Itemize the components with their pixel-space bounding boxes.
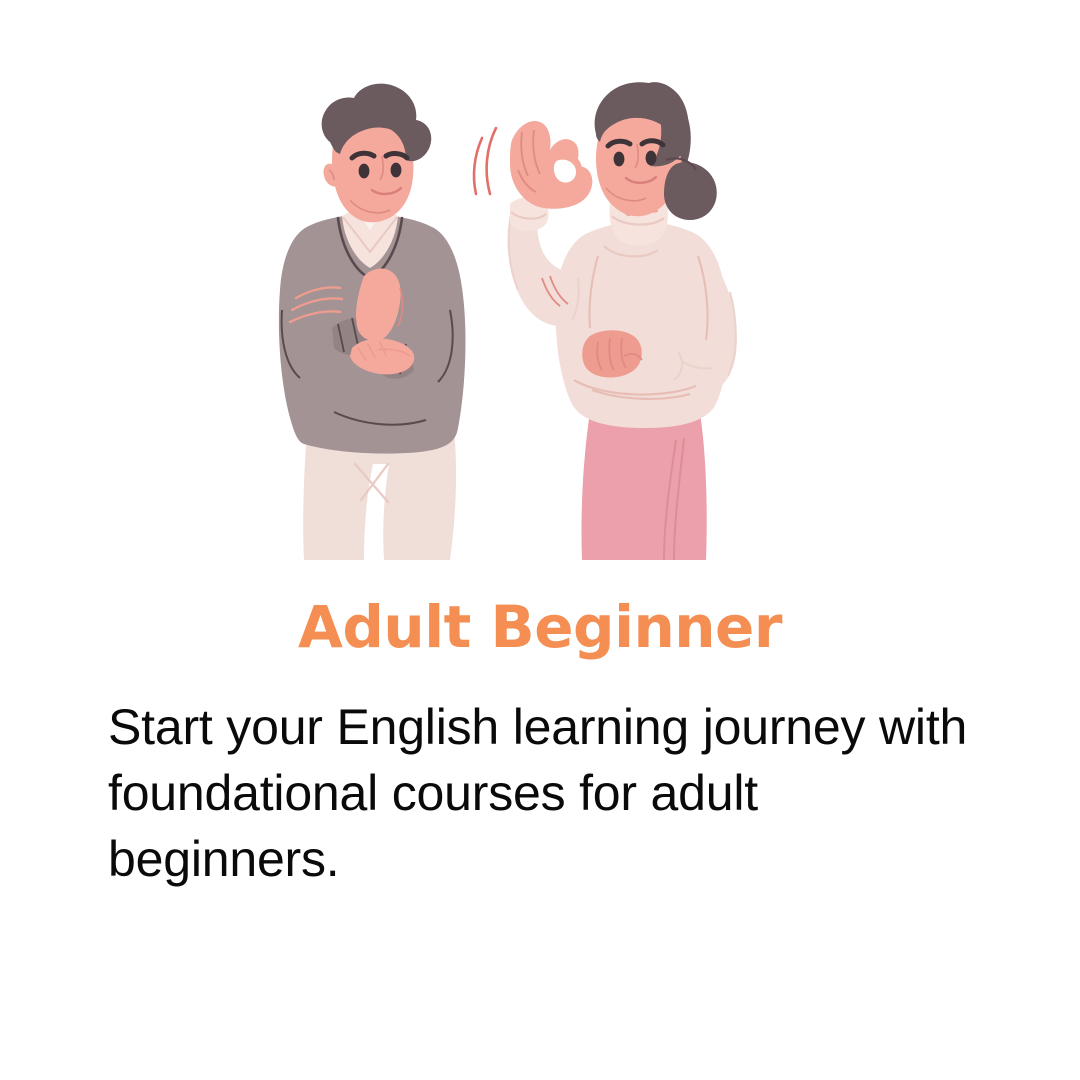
description-text: Start your English learning journey with… xyxy=(0,694,1080,892)
text-block: Adult Beginner Start your English learni… xyxy=(0,596,1080,892)
course-card: Adult Beginner Start your English learni… xyxy=(0,0,1080,1080)
motion-lines-woman xyxy=(474,128,496,194)
ok-hand-gesture xyxy=(510,121,592,209)
two-people-signing-illustration xyxy=(260,60,820,570)
page-title: Adult Beginner xyxy=(0,596,1080,660)
figure-man xyxy=(279,84,466,560)
figure-woman xyxy=(474,82,737,560)
illustration xyxy=(0,60,1080,580)
